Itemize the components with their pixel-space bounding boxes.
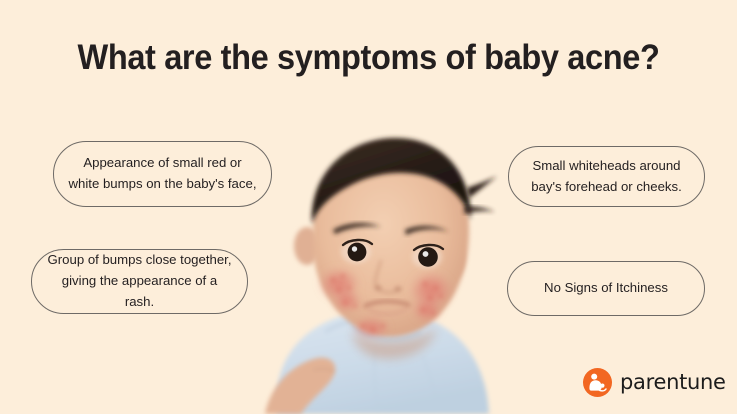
infographic-canvas: What are the symptoms of baby acne? xyxy=(0,0,737,414)
callout-symptom-grouped-bumps-rash[interactable]: Group of bumps close together, giving th… xyxy=(31,249,248,314)
callout-line-2: giving the appearance of a rash. xyxy=(46,271,233,313)
parentune-logo[interactable]: parentune xyxy=(583,368,726,397)
callout-line-2: bay's forehead or cheeks. xyxy=(531,177,682,198)
parentune-logo-mark-icon xyxy=(583,368,612,397)
callout-symptom-no-itchiness[interactable]: No Signs of Itchiness xyxy=(507,261,705,316)
callout-line-1: No Signs of Itchiness xyxy=(544,278,668,299)
callout-line-1: Appearance of small red or xyxy=(69,153,257,174)
baby-photo xyxy=(255,118,515,414)
callout-line-2: white bumps on the baby's face, xyxy=(69,174,257,195)
callout-symptom-whiteheads[interactable]: Small whiteheads around bay's forehead o… xyxy=(508,146,705,207)
parentune-logo-text: parentune xyxy=(620,372,726,393)
callout-symptom-red-white-bumps[interactable]: Appearance of small red or white bumps o… xyxy=(53,141,272,207)
callout-line-1: Small whiteheads around xyxy=(531,156,682,177)
page-title: What are the symptoms of baby acne? xyxy=(26,38,711,78)
callout-line-1: Group of bumps close together, xyxy=(46,250,233,271)
